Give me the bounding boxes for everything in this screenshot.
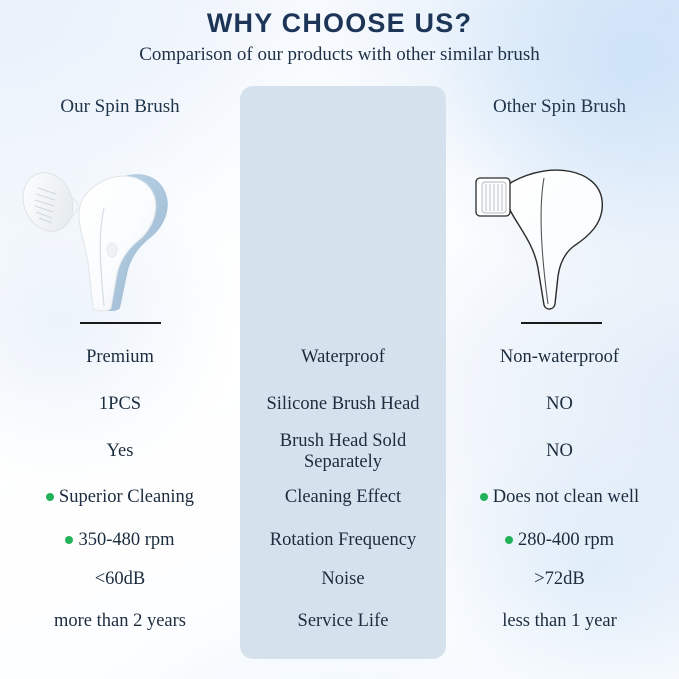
bullet-icon [480, 493, 488, 501]
row-0-attribute: Waterproof [240, 347, 446, 369]
row-5-attribute-text: Noise [321, 569, 364, 589]
bullet-icon [46, 493, 54, 501]
row-1-attribute: Silicone Brush Head [240, 394, 446, 416]
row-4-attribute-text: Rotation Frequency [270, 530, 416, 550]
row-6-other-value: less than 1 year [440, 611, 679, 633]
row-0-attribute-text: Waterproof [301, 347, 385, 367]
row-5-our-value: <60dB [0, 569, 240, 591]
row-0-our-value: Premium [0, 347, 240, 369]
column-heading-other-brush: Other Spin Brush [440, 96, 679, 118]
row-6-attribute: Service Life [240, 611, 446, 633]
row-2-attribute-line-1: Brush Head Sold [240, 431, 446, 452]
row-0-other-value: Non-waterproof [440, 347, 679, 369]
row-3-attribute: Cleaning Effect [240, 487, 446, 509]
product-image-our-spin-brush [0, 138, 240, 313]
row-5-our-value-text: <60dB [95, 569, 146, 589]
row-1-our-value-text: 1PCS [99, 394, 141, 414]
row-3-other-value: Does not clean well [440, 487, 679, 509]
row-6-our-value: more than 2 years [0, 611, 240, 633]
row-4-attribute: Rotation Frequency [240, 530, 446, 552]
row-3-attribute-text: Cleaning Effect [285, 487, 401, 507]
bullet-icon [65, 536, 73, 544]
row-4-other-value-text: 280-400 rpm [518, 530, 614, 550]
row-2-attribute: Brush Head SoldSeparately [240, 431, 446, 472]
row-2-other-value: NO [440, 441, 679, 463]
row-2-attribute-line-2: Separately [240, 452, 446, 473]
row-0-other-value-text: Non-waterproof [500, 347, 619, 367]
comparison-infographic: WHY CHOOSE US? Comparison of our product… [0, 0, 679, 679]
divider-other-brush [521, 322, 602, 324]
row-3-our-value-text: Superior Cleaning [59, 487, 194, 507]
row-0-our-value-text: Premium [86, 347, 154, 367]
row-5-other-value-text: >72dB [534, 569, 585, 589]
row-3-other-value-text: Does not clean well [493, 487, 639, 507]
row-6-our-value-text: more than 2 years [54, 611, 186, 631]
row-1-our-value: 1PCS [0, 394, 240, 416]
row-6-attribute-text: Service Life [298, 611, 389, 631]
product-image-other-spin-brush [440, 138, 679, 313]
row-1-other-value: NO [440, 394, 679, 416]
column-heading-our-brush: Our Spin Brush [0, 96, 240, 118]
row-3-our-value: Superior Cleaning [0, 487, 240, 509]
divider-our-brush [80, 322, 161, 324]
row-6-other-value-text: less than 1 year [502, 611, 617, 631]
row-4-other-value: 280-400 rpm [440, 530, 679, 552]
row-2-other-value-text: NO [546, 441, 573, 461]
row-2-our-value-text: Yes [107, 441, 134, 461]
bullet-icon [505, 536, 513, 544]
row-2-our-value: Yes [0, 441, 240, 463]
row-1-attribute-text: Silicone Brush Head [266, 394, 419, 414]
row-5-attribute: Noise [240, 569, 446, 591]
row-4-our-value-text: 350-480 rpm [78, 530, 174, 550]
row-5-other-value: >72dB [440, 569, 679, 591]
row-1-other-value-text: NO [546, 394, 573, 414]
row-4-our-value: 350-480 rpm [0, 530, 240, 552]
